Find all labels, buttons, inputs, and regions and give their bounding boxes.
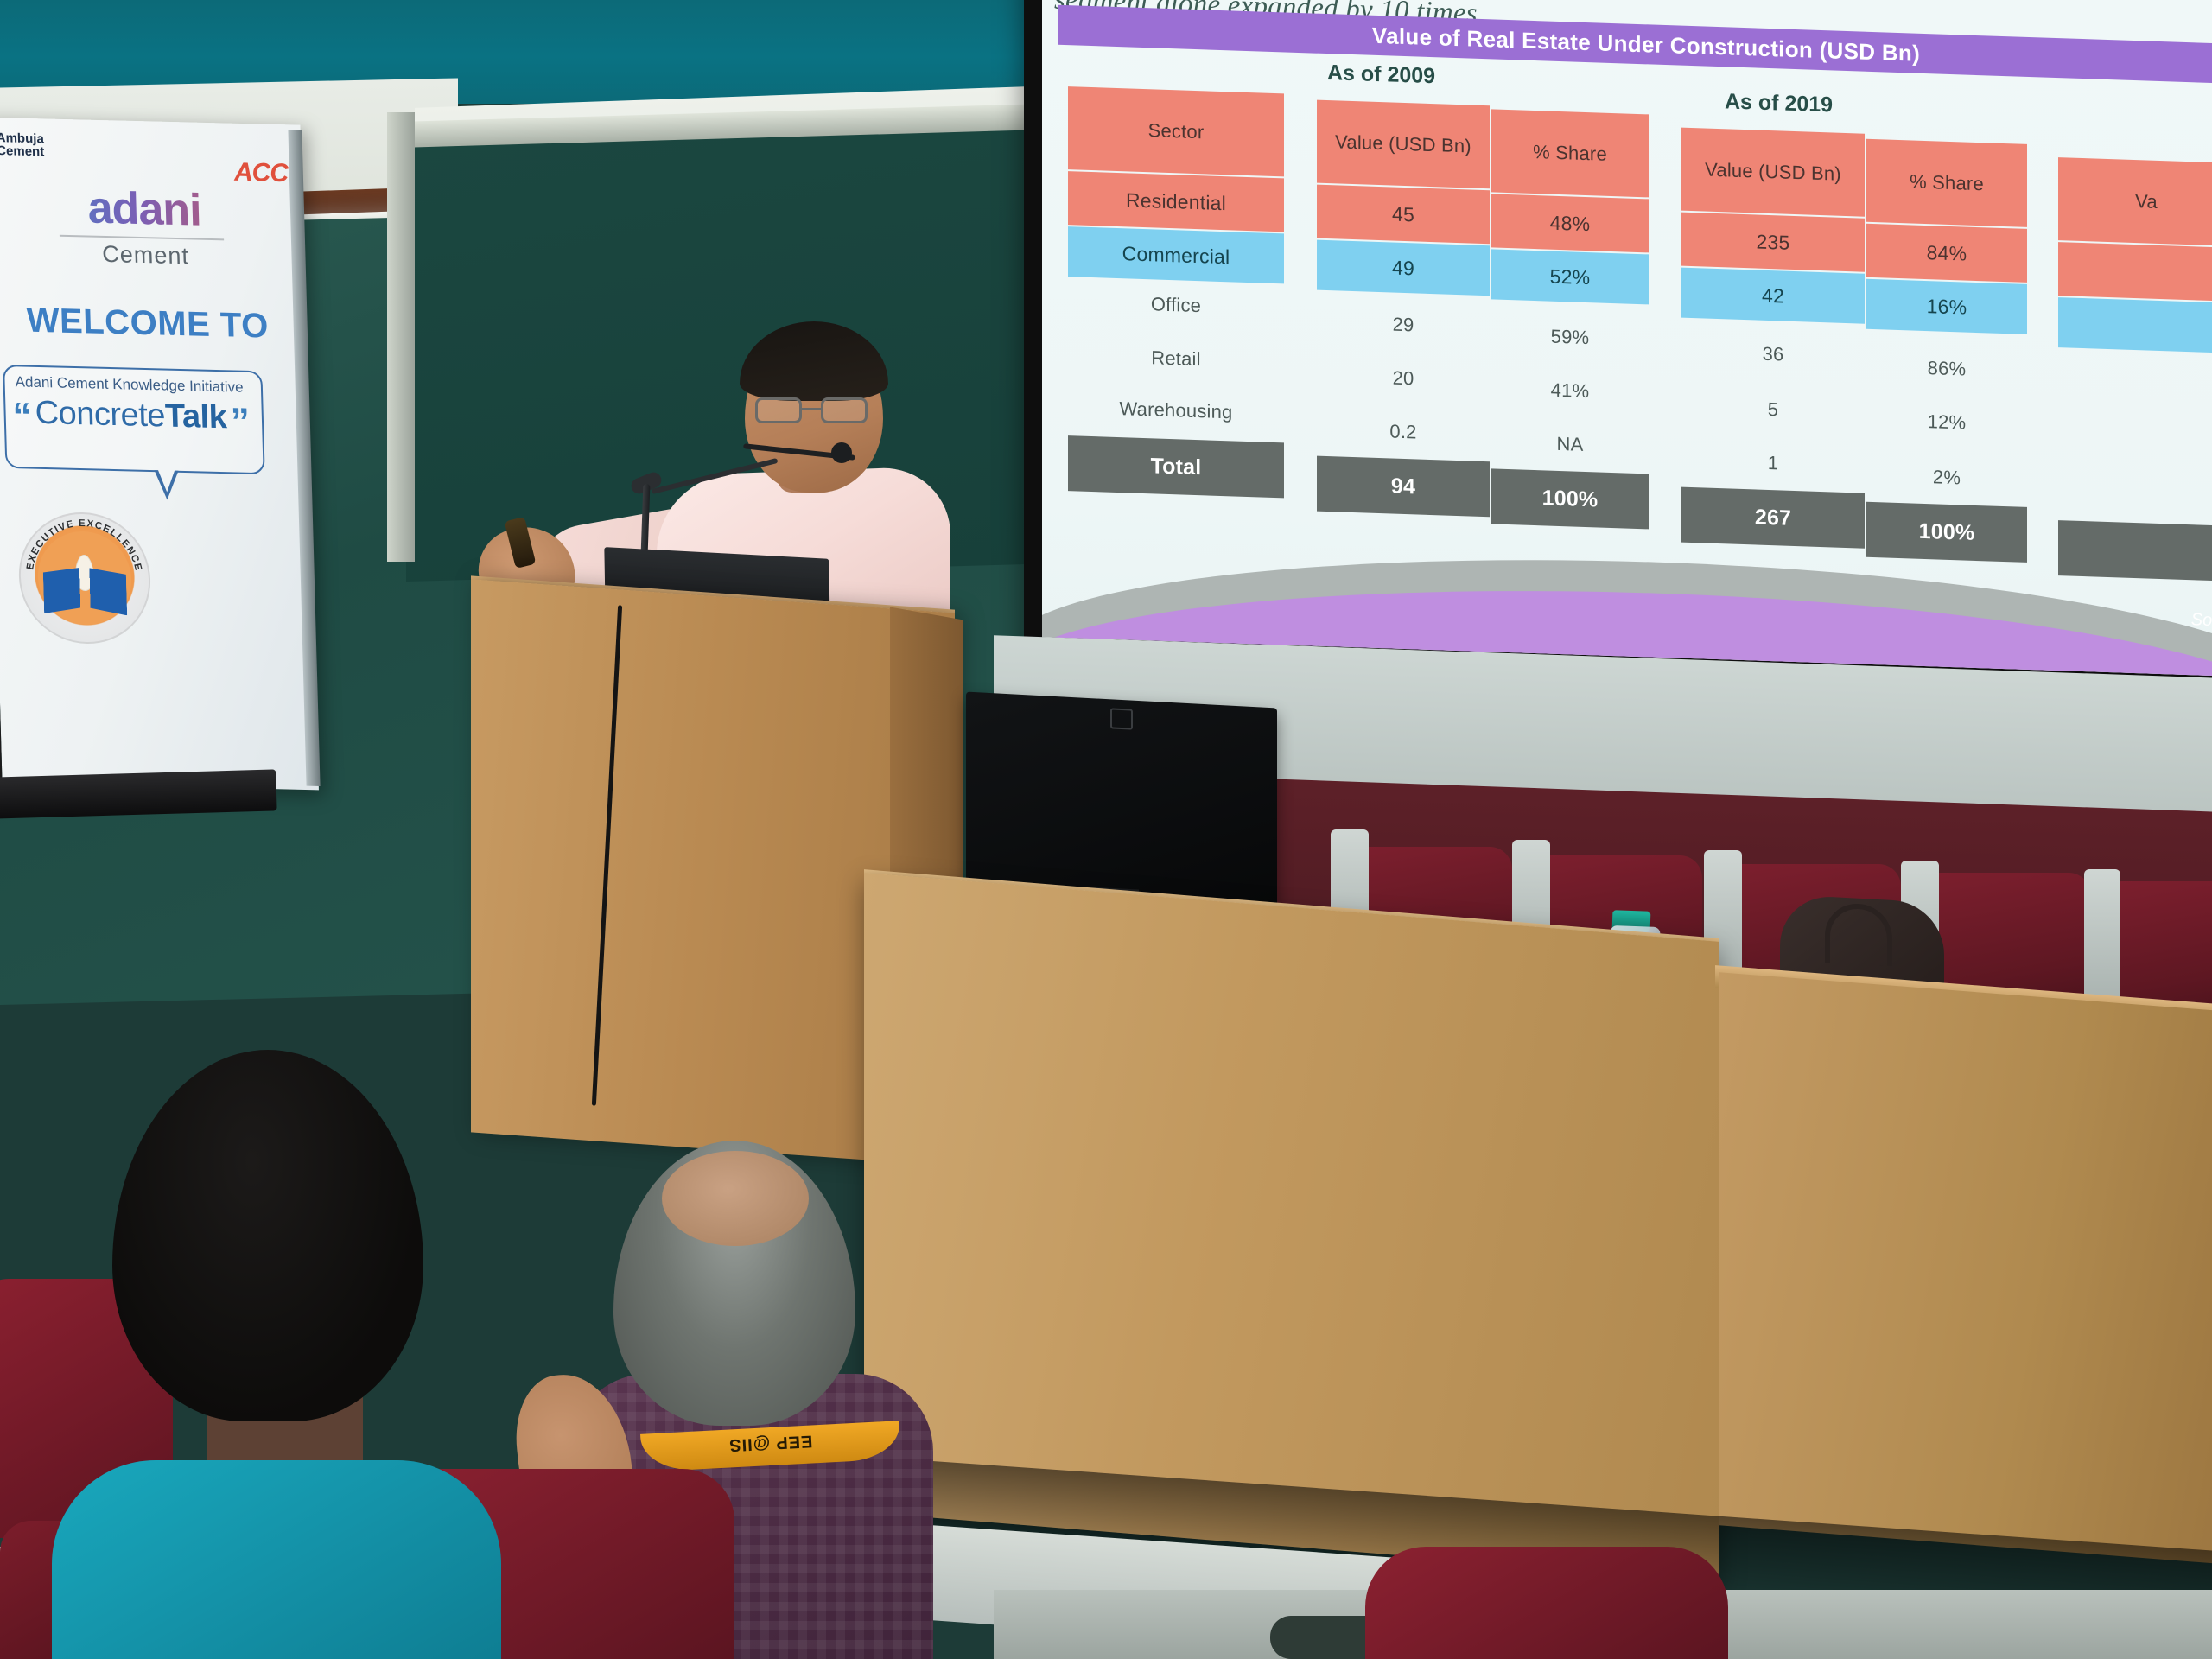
eep-seal-ring-text: EXECUTIVE EXCELLENCE PROGRAM — [17, 511, 152, 645]
cell-partial-total — [2058, 520, 2212, 582]
cell-sector-retail: Retail — [1068, 334, 1284, 384]
cell-2009-value-residential: 45 — [1317, 185, 1490, 245]
cell-2009-value-warehousing: 0.2 — [1317, 408, 1490, 457]
cell-sector-office: Office — [1068, 280, 1284, 330]
adani-cement-sub: Cement — [0, 238, 304, 273]
speech-bubble-tail-inner — [156, 467, 176, 493]
audience-member-1-head — [112, 1050, 423, 1421]
th-value-2009: Value (USD Bn) — [1317, 100, 1490, 189]
cell-2019-share-total: 100% — [1866, 502, 2027, 563]
cell-partial-residential — [2058, 242, 2212, 302]
concretetalk-bold: Talk — [164, 397, 226, 435]
cell-sector-commercial: Commercial — [1068, 226, 1284, 283]
concretetalk-wordmark: ConcreteTalk — [10, 394, 263, 437]
presentation-scene: value of real estate under construction … — [0, 0, 2212, 1659]
slide-source-label: Sour — [2191, 610, 2212, 631]
second-counter — [1719, 972, 2212, 1564]
cell-2009-share-retail: 41% — [1491, 366, 1649, 415]
cell-2009-value-retail: 20 — [1317, 354, 1490, 404]
acc-logo: ACC — [233, 158, 288, 189]
cell-sector-total: Total — [1068, 435, 1284, 498]
cell-2019-share-retail: 12% — [1866, 398, 2027, 447]
cell-2009-share-warehousing: NA — [1491, 420, 1649, 468]
concretetalk-light: Concrete — [35, 395, 166, 435]
foreground-seat-right — [1365, 1547, 1728, 1659]
cell-sector-warehousing: Warehousing — [1059, 385, 1293, 436]
cell-2019-share-commercial: 16% — [1866, 279, 2027, 334]
cell-2019-value-total: 267 — [1681, 487, 1865, 549]
banner-base-stand — [0, 769, 277, 818]
audience-member-2-scalp — [662, 1151, 809, 1246]
cell-2009-value-total: 94 — [1317, 456, 1490, 518]
projection-screen: value of real estate under construction … — [1042, 0, 2212, 677]
cell-sector-residential: Residential — [1068, 171, 1284, 232]
th-value-2019: Value (USD Bn) — [1681, 128, 1865, 217]
cell-2009-share-total: 100% — [1491, 468, 1649, 529]
audience-member-1-shirt — [52, 1460, 501, 1659]
cell-2019-value-office: 36 — [1681, 330, 1865, 379]
svg-text:EXECUTIVE EXCELLENCE PROGRAM: EXECUTIVE EXCELLENCE PROGRAM — [17, 511, 144, 576]
eep-seal: EXECUTIVE EXCELLENCE PROGRAM — [17, 511, 152, 645]
cell-partial-commercial — [2058, 297, 2212, 353]
monitor-brand-logo-icon — [1110, 708, 1133, 729]
desk-monitor[interactable] — [966, 692, 1277, 907]
cell-2009-share-commercial: 52% — [1491, 249, 1649, 304]
th-value-partial: Va — [2058, 157, 2212, 246]
cell-2019-value-warehousing: 1 — [1681, 439, 1865, 488]
shoe-on-floor — [1270, 1616, 1374, 1659]
cell-2019-value-commercial: 42 — [1681, 268, 1865, 324]
cell-2019-share-warehousing: 2% — [1866, 454, 2027, 502]
th-sector: Sector — [1068, 86, 1284, 176]
cell-2019-value-retail: 5 — [1681, 385, 1865, 435]
adani-wordmark: adani — [0, 180, 303, 239]
cell-2009-share-office: 59% — [1491, 313, 1649, 361]
adani-cement-banner: Ambuja Cement ACC adani Cement WELCOME T… — [0, 118, 319, 791]
cell-2009-share-residential: 48% — [1491, 194, 1649, 252]
glasses-left-lens — [755, 397, 802, 423]
cell-2019-share-residential: 84% — [1866, 224, 2027, 283]
cell-2009-value-commercial: 49 — [1317, 240, 1490, 296]
cell-2009-value-office: 29 — [1317, 301, 1490, 350]
ambuja-cement-logo: Ambuja Cement — [0, 131, 44, 158]
th-share-2009: % Share — [1491, 109, 1649, 197]
welcome-heading: WELCOME TO — [0, 301, 307, 347]
cell-2019-share-office: 86% — [1866, 345, 2027, 393]
glasses-bridge — [802, 408, 821, 410]
ambuja-line2: Cement — [0, 144, 44, 158]
th-share-2019: % Share — [1866, 139, 2027, 227]
glasses-right-lens — [821, 397, 868, 423]
blackboard-frame-left — [387, 112, 415, 562]
slide-content: value of real estate under construction … — [1042, 0, 2212, 677]
cell-2019-value-residential: 235 — [1681, 213, 1865, 272]
speaker-glasses-icon — [752, 397, 881, 423]
lapel-mic-capsule — [831, 442, 852, 463]
